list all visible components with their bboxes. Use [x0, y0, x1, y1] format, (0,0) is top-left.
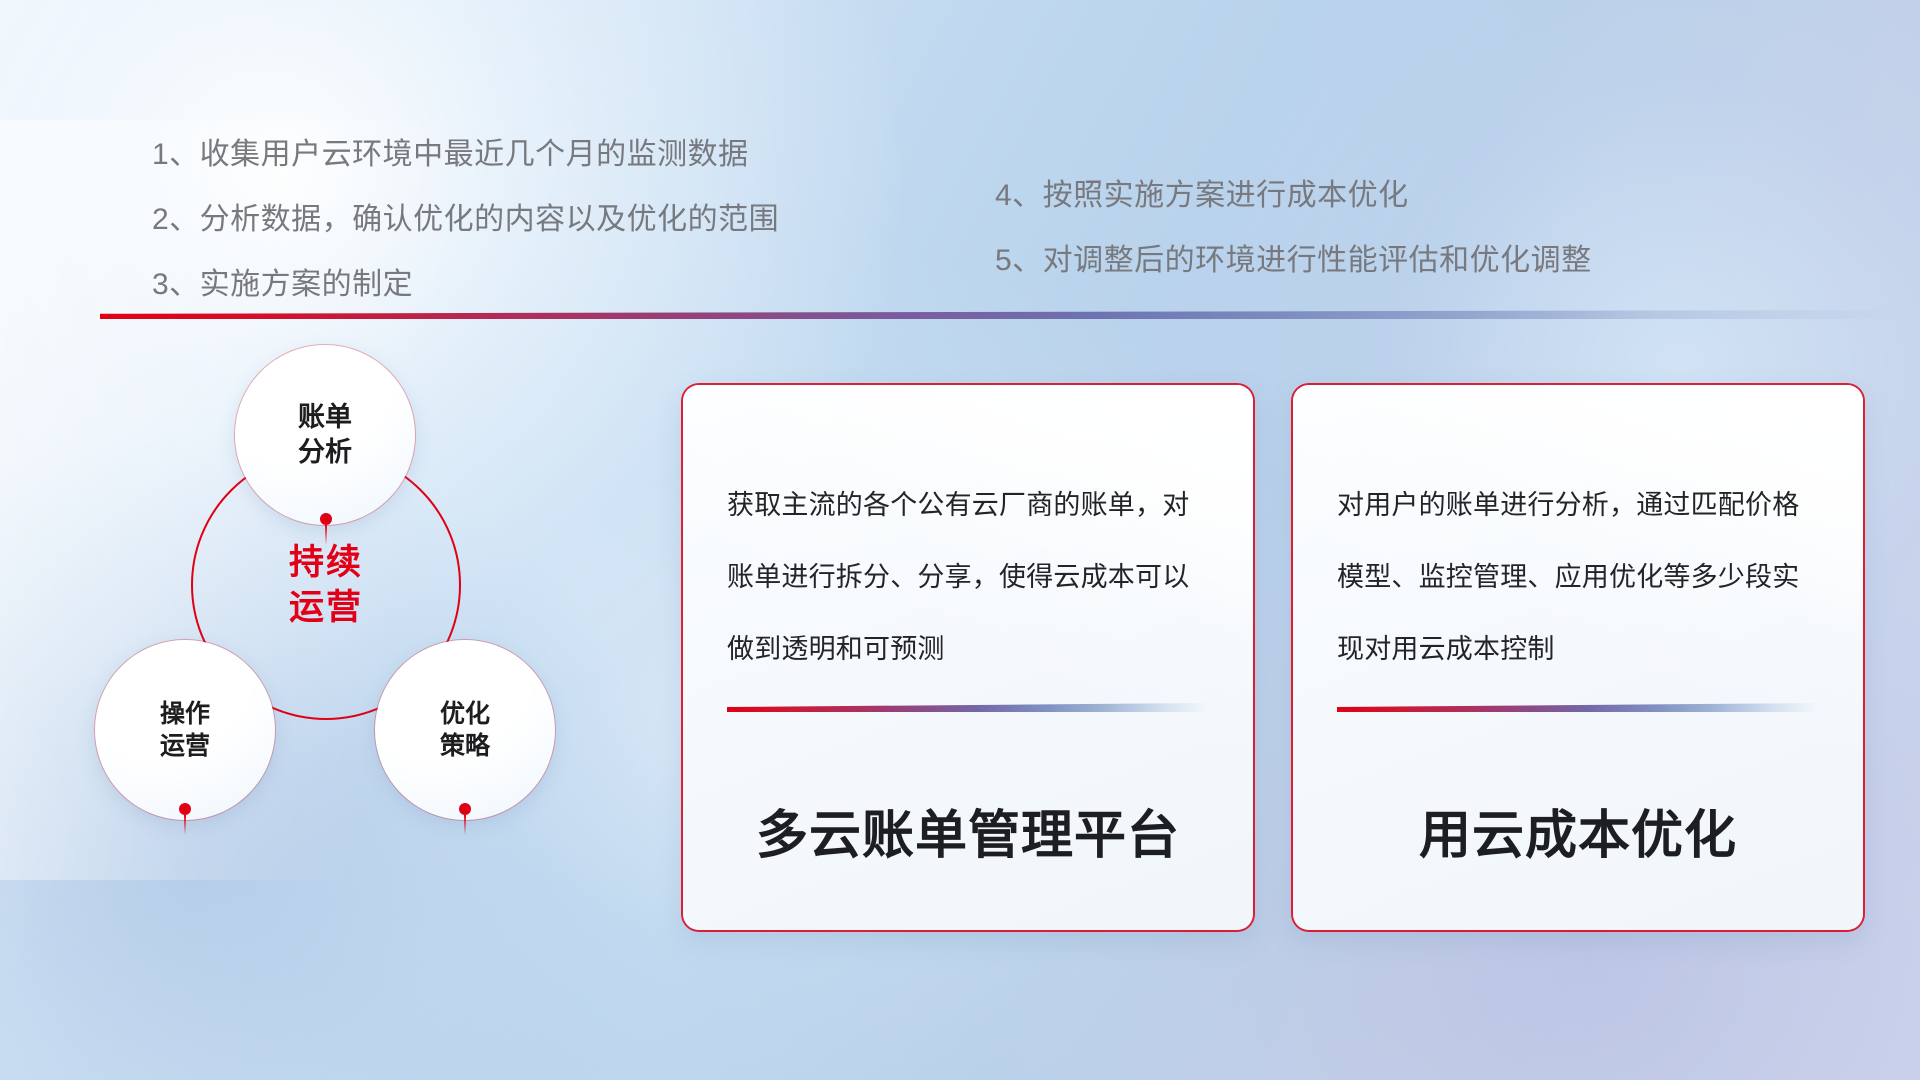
continuous-operation-diagram: 持续 运营 账单 分析 操作 运营 优化 策略	[95, 345, 675, 955]
diagram-dot-top	[320, 513, 332, 525]
bubble-operations-line1: 操作	[160, 698, 210, 730]
step-item-5: 5、对调整后的环境进行性能评估和优化调整	[995, 228, 1592, 293]
card-multicloud-billing-body: 获取主流的各个公有云厂商的账单，对账单进行拆分、分享，使得云成本可以做到透明和可…	[683, 385, 1253, 685]
card-multicloud-billing-title: 多云账单管理平台	[683, 793, 1253, 868]
steps-list: 1、收集用户云环境中最近几个月的监测数据 2、分析数据，确认优化的内容以及优化的…	[0, 0, 1920, 300]
section-divider	[100, 310, 1900, 319]
diagram-tick-right	[464, 815, 466, 835]
diagram-tick-left	[184, 815, 186, 835]
step-item-4: 4、按照实施方案进行成本优化	[995, 163, 1592, 228]
diagram-tick-top	[325, 525, 327, 545]
card-cloud-cost-optimization-divider	[1337, 703, 1819, 712]
section-divider-gradient	[100, 310, 1900, 319]
card-multicloud-billing[interactable]: 获取主流的各个公有云厂商的账单，对账单进行拆分、分享，使得云成本可以做到透明和可…	[683, 385, 1253, 930]
diagram-dot-left	[179, 803, 191, 815]
card-cloud-cost-optimization-title: 用云成本优化	[1293, 793, 1863, 868]
diagram-dot-right	[459, 803, 471, 815]
bubble-operations-line2: 运营	[160, 730, 210, 762]
steps-column-right: 4、按照实施方案进行成本优化 5、对调整后的环境进行性能评估和优化调整	[995, 163, 1592, 293]
diagram-bubble-strategy[interactable]: 优化 策略	[375, 640, 555, 820]
diagram-center-label-line2: 运营	[289, 585, 363, 631]
card-multicloud-billing-divider-gradient	[727, 703, 1209, 712]
bubble-strategy-line2: 策略	[440, 730, 490, 762]
card-multicloud-billing-paragraph: 获取主流的各个公有云厂商的账单，对账单进行拆分、分享，使得云成本可以做到透明和可…	[727, 469, 1209, 685]
bubble-strategy-line1: 优化	[440, 698, 490, 730]
card-cloud-cost-optimization-divider-gradient	[1337, 703, 1819, 712]
steps-column-left: 1、收集用户云环境中最近几个月的监测数据 2、分析数据，确认优化的内容以及优化的…	[152, 122, 779, 317]
bubble-bill-analysis-line1: 账单	[298, 400, 352, 435]
step-item-2: 2、分析数据，确认优化的内容以及优化的范围	[152, 187, 779, 252]
card-cloud-cost-optimization-paragraph: 对用户的账单进行分析，通过匹配价格模型、监控管理、应用优化等多少段实现对用云成本…	[1337, 469, 1819, 685]
card-multicloud-billing-divider	[727, 703, 1209, 712]
card-cloud-cost-optimization[interactable]: 对用户的账单进行分析，通过匹配价格模型、监控管理、应用优化等多少段实现对用云成本…	[1293, 385, 1863, 930]
bubble-bill-analysis-line2: 分析	[298, 435, 352, 470]
diagram-bubble-operations[interactable]: 操作 运营	[95, 640, 275, 820]
diagram-bubble-bill-analysis[interactable]: 账单 分析	[235, 345, 415, 525]
step-item-3: 3、实施方案的制定	[152, 252, 779, 317]
card-cloud-cost-optimization-body: 对用户的账单进行分析，通过匹配价格模型、监控管理、应用优化等多少段实现对用云成本…	[1293, 385, 1863, 685]
diagram-center-label-line1: 持续	[289, 540, 363, 586]
step-item-1: 1、收集用户云环境中最近几个月的监测数据	[152, 122, 779, 187]
